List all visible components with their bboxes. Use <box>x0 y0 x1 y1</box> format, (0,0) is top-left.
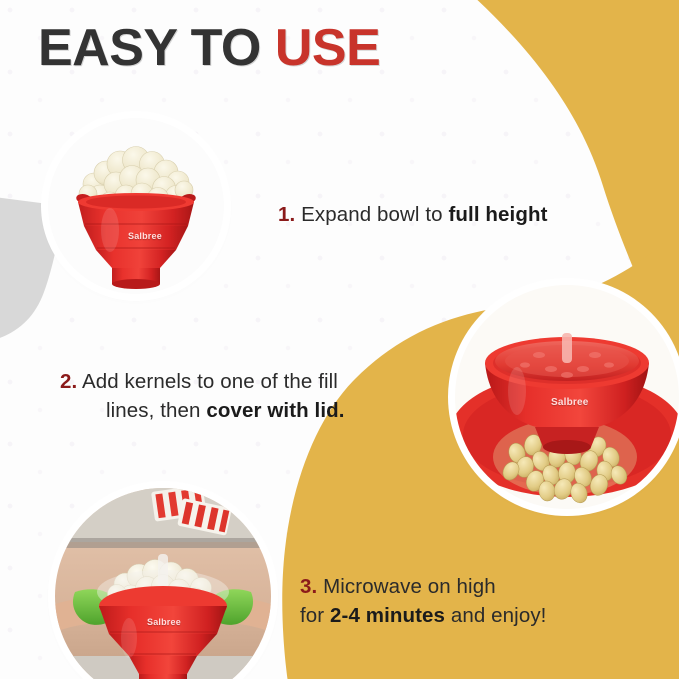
brand-label-photo-3: Salbree <box>147 617 181 627</box>
step-1-plain: Expand bowl to <box>301 203 448 226</box>
step-3-text: 3. Microwave on high for 2-4 minutes and… <box>300 572 660 630</box>
step-2-number: 2. <box>60 370 77 393</box>
step-3-line2-suffix: and enjoy! <box>445 604 546 627</box>
brand-label-photo-1: Salbree <box>128 231 162 241</box>
brand-label-photo-2: Salbree <box>551 397 589 408</box>
step-2-line2: lines, then cover with lid. <box>60 396 440 425</box>
photo-step-2-kernels-and-lid: Salbree <box>455 285 679 509</box>
step-2-line1: Add kernels to one of the fill <box>82 370 338 393</box>
step-1-text: 1. Expand bowl to full height <box>278 200 648 229</box>
page-title: EASY TO USE <box>38 22 380 74</box>
step-3-bold: 2-4 minutes <box>330 604 445 627</box>
step-3-line2: for 2-4 minutes and enjoy! <box>300 601 660 630</box>
step-1-number: 1. <box>278 203 295 226</box>
gold-wedge-top-right <box>353 0 679 314</box>
step-2-line2-plain: lines, then <box>106 399 206 422</box>
headline-part-dark: EASY TO <box>38 19 275 77</box>
photo-2-scene: Salbree <box>455 285 679 509</box>
step-1-bold: full height <box>448 203 547 226</box>
step-2-text: 2. Add kernels to one of the fill lines,… <box>60 367 440 425</box>
headline-part-accent: USE <box>275 19 380 77</box>
infographic-poster: EASY TO USE <box>0 0 679 679</box>
photo-3-scene: Salbree <box>55 488 271 679</box>
photo-1-scene: Salbree <box>48 118 224 294</box>
step-2-bold: cover with lid. <box>206 399 344 422</box>
photo-step-1-expanded-bowl: Salbree <box>48 118 224 294</box>
photo-step-3-microwave: Salbree <box>55 488 271 679</box>
step-3-line2-prefix: for <box>300 604 330 627</box>
step-3-line1: Microwave on high <box>323 575 496 598</box>
step-3-number: 3. <box>300 575 317 598</box>
